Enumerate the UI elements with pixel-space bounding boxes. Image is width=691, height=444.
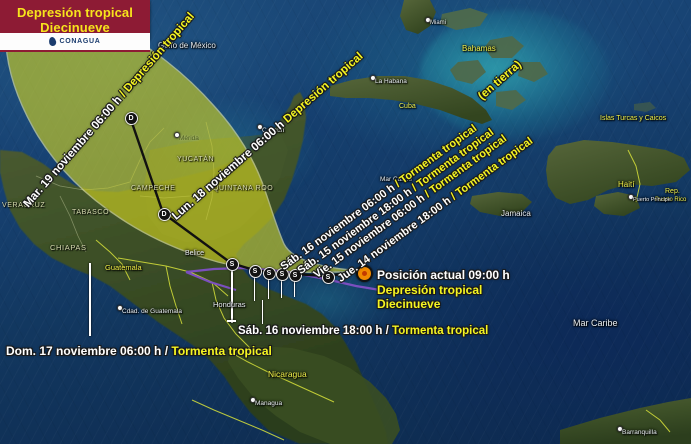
track-node-storm: S (322, 271, 335, 284)
leader-line-mid2 (268, 277, 269, 299)
agency-name: CONAGUA (59, 38, 100, 45)
city-dot (617, 426, 623, 432)
track-node-storm: S (263, 267, 276, 280)
leader-line-sab16b (231, 271, 233, 323)
agency-strip: CONAGUA (0, 33, 150, 52)
banner-title-line1: Depresión tropical (0, 5, 150, 20)
city-dot (117, 305, 123, 311)
track-node-storm: S (276, 268, 289, 281)
track-node-storm: S (226, 258, 239, 271)
leader-line-mid4 (294, 279, 295, 297)
city-dot (257, 124, 263, 130)
track-node-depression: D (158, 208, 171, 221)
city-dot (174, 132, 180, 138)
track-node-storm: S (249, 265, 262, 278)
hurricane-forecast-map: DDSSSSSS Golfo de MéxicoMar CaribeMar Ca… (0, 0, 691, 444)
leader-arrow-sab16b (227, 320, 236, 322)
leader-line-mid1 (254, 275, 255, 301)
leader-line-mid3 (281, 278, 282, 298)
track-node-storm: S (289, 269, 302, 282)
conagua-droplet-icon (49, 36, 58, 46)
city-dot (370, 75, 376, 81)
storm-track-line (0, 0, 691, 444)
track-node-depression: D (125, 112, 138, 125)
leader-line-sab16a-vert (262, 300, 263, 324)
city-dot (425, 17, 431, 23)
current-position-marker (356, 265, 373, 282)
city-dot (250, 397, 256, 403)
leader-line-dom17 (89, 263, 91, 336)
city-dot (628, 194, 634, 200)
